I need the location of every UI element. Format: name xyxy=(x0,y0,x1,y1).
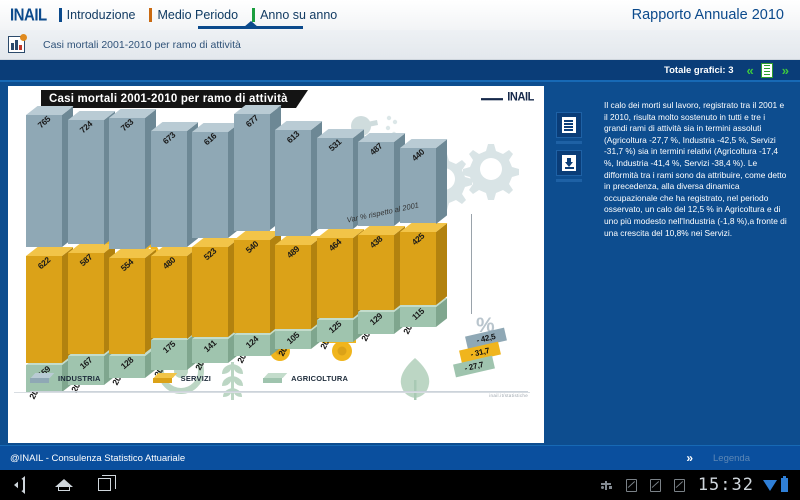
back-icon[interactable] xyxy=(12,476,34,494)
list-icon xyxy=(562,117,576,133)
breadcrumb: Casi mortali 2001-2010 per ramo di attiv… xyxy=(0,30,800,60)
nav-item-medio-periodo[interactable]: Medio Periodo xyxy=(149,8,238,22)
download-icon xyxy=(562,155,576,171)
battery-icon xyxy=(781,478,788,492)
nav-tick-icon xyxy=(149,8,152,22)
prev-chart-button[interactable]: « xyxy=(747,63,752,78)
side-button-divider xyxy=(556,141,582,144)
chart-legend: INDUSTRIA SERVIZI AGRICOLTURA xyxy=(30,373,530,383)
bar-segment: 425 xyxy=(400,232,436,305)
nav-label: Introduzione xyxy=(67,8,136,22)
bar-segment: 677 xyxy=(234,114,270,230)
chart-card: Casi mortali 2001-2010 per ramo di attiv… xyxy=(8,86,544,443)
nav-label: Medio Periodo xyxy=(157,8,238,22)
bar-segment: 115 xyxy=(400,307,436,327)
total-charts-label: Totale grafici: 3 xyxy=(664,65,734,76)
bar-segment: 554 xyxy=(109,258,145,353)
no-sim-icon xyxy=(674,479,685,492)
legend-swatch-icon xyxy=(30,373,52,383)
legend-label: INDUSTRIA xyxy=(58,374,101,383)
chart-inail-logo: INAIL xyxy=(507,90,534,103)
bar-segment: 523 xyxy=(192,247,228,337)
bar-segment: 540 xyxy=(234,240,270,333)
nav-item-anno-su-anno[interactable]: Anno su anno xyxy=(252,8,337,22)
inail-logo: INAIL xyxy=(10,5,47,25)
application-window: INAIL Introduzione Medio Periodo Anno su… xyxy=(0,0,800,500)
breadcrumb-label: Casi mortali 2001-2010 per ramo di attiv… xyxy=(43,39,241,51)
status-clock: 15:32 xyxy=(698,475,754,495)
document-list-icon[interactable] xyxy=(761,63,773,78)
chart-toolbar: Totale grafici: 3 « » xyxy=(0,60,800,82)
download-button[interactable] xyxy=(556,150,582,176)
bar-segment: 613 xyxy=(275,130,311,235)
bar-segment: 673 xyxy=(151,131,187,247)
legend-label: SERVIZI xyxy=(181,374,211,383)
footer-credit: @INAIL - Consulenza Statistico Attuarial… xyxy=(10,453,185,464)
bar-segment: 129 xyxy=(358,312,394,334)
recent-apps-icon[interactable] xyxy=(96,476,118,494)
bar-segment: 480 xyxy=(151,256,187,339)
bar-segment: 125 xyxy=(317,320,353,342)
bar-segment: 175 xyxy=(151,340,187,370)
bar-segment: 124 xyxy=(234,335,270,356)
top-header: INAIL Introduzione Medio Periodo Anno su… xyxy=(0,0,800,30)
nav-item-introduzione[interactable]: Introduzione xyxy=(59,8,136,22)
bar-side xyxy=(436,224,447,306)
legend-divider xyxy=(30,391,528,392)
bar-segment: 105 xyxy=(275,331,311,349)
bar-segment: 438 xyxy=(358,235,394,310)
bar-side xyxy=(436,139,447,223)
chart-plot-area: 2001159622765200216758772420031285547632… xyxy=(8,104,544,404)
description-text: Il calo dei morti sul lavoro, registrato… xyxy=(604,100,788,239)
no-sim-icon xyxy=(650,479,661,492)
footer-bar: @INAIL - Consulenza Statistico Attuarial… xyxy=(0,445,800,470)
chart-credit: inail.it/statistiche xyxy=(489,393,528,398)
footer-legend-button[interactable]: Legenda xyxy=(713,453,750,464)
usb-debug-icon xyxy=(600,479,613,492)
wifi-icon xyxy=(763,480,777,491)
description-panel: Il calo dei morti sul lavoro, registrato… xyxy=(596,86,796,443)
bar-segment: 587 xyxy=(68,253,104,354)
next-chart-button[interactable]: » xyxy=(782,63,787,78)
chart-baseline xyxy=(14,392,530,393)
active-tab-caret-icon xyxy=(244,21,258,27)
bar-segment: 464 xyxy=(317,238,353,318)
legend-item-agricoltura[interactable]: AGRICOLTURA xyxy=(263,373,348,383)
legend-item-industria[interactable]: INDUSTRIA xyxy=(30,373,101,383)
legend-swatch-icon xyxy=(153,373,175,383)
chart-document-icon xyxy=(8,36,25,53)
main-stage: Casi mortali 2001-2010 per ramo di attiv… xyxy=(0,84,800,445)
footer-expand-button[interactable]: » xyxy=(686,451,691,465)
legend-item-servizi[interactable]: SERVIZI xyxy=(153,373,211,383)
bar-segment: 763 xyxy=(109,118,145,249)
bar-segment: 724 xyxy=(68,120,104,245)
bar-segment: 141 xyxy=(192,339,228,363)
side-button-divider xyxy=(556,179,582,182)
bar-segment: 489 xyxy=(275,245,311,329)
nav-label: Anno su anno xyxy=(260,8,337,22)
android-navigation-bar: 15:32 xyxy=(0,470,800,500)
home-icon[interactable] xyxy=(54,476,76,494)
variation-leader-line xyxy=(471,214,472,314)
bar-segment: 622 xyxy=(26,256,62,363)
legend-label: AGRICOLTURA xyxy=(291,374,348,383)
report-title: Rapporto Annuale 2010 xyxy=(632,7,790,23)
table-view-button[interactable] xyxy=(556,112,582,138)
legend-swatch-icon xyxy=(263,373,285,383)
no-sim-icon xyxy=(626,479,637,492)
bar-segment: 616 xyxy=(192,132,228,238)
side-tool-buttons xyxy=(556,112,586,188)
nav-tick-icon xyxy=(59,8,62,22)
bar-segment: 765 xyxy=(26,115,62,247)
android-status-area: 15:32 xyxy=(600,475,788,495)
nav-tick-icon xyxy=(252,8,255,22)
